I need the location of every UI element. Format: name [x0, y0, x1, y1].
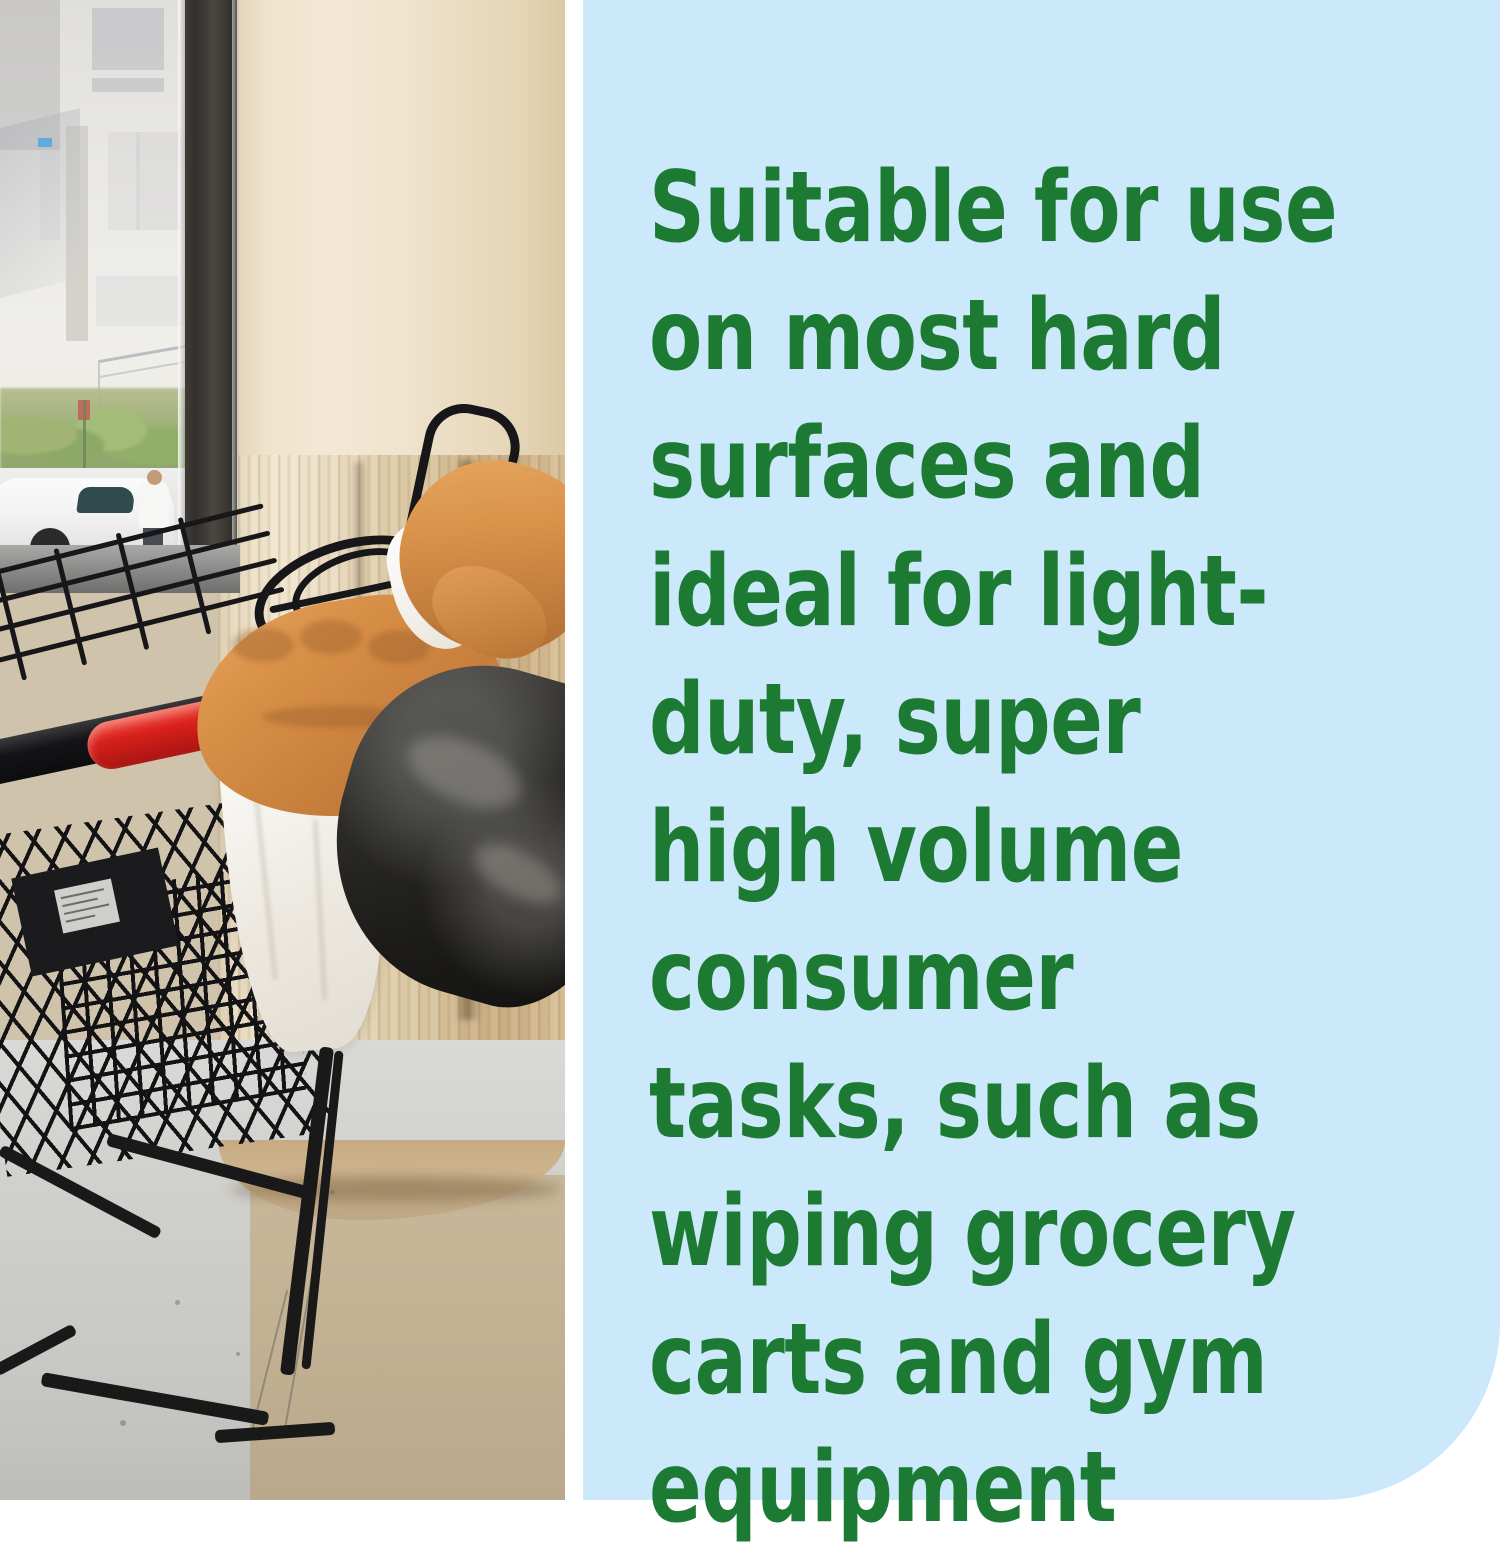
benefit-copy-panel: Suitable for use on most hard surfaces a… [583, 0, 1500, 1500]
car-window [76, 487, 136, 513]
blue-sign [38, 138, 52, 147]
window-mullion [185, 0, 237, 572]
pedestrian-head [147, 470, 162, 485]
building-window [92, 8, 164, 70]
window-mullion-highlight [232, 0, 239, 572]
metal-column-upper [218, 0, 565, 470]
product-usage-photo [0, 0, 565, 1500]
feature-banner: Suitable for use on most hard surfaces a… [0, 0, 1500, 1500]
floor-speck [236, 1352, 240, 1356]
floor-speck [175, 1300, 180, 1305]
headline-text: Suitable for use on most hard surfaces a… [649, 144, 1353, 1552]
floor-speck [120, 1420, 126, 1426]
building-window [96, 276, 190, 326]
floor-speck [330, 1190, 335, 1195]
sign-post [83, 400, 86, 470]
panel-divider [565, 0, 583, 1500]
building-window [92, 78, 164, 92]
building-soffit [0, 108, 80, 298]
storefront-window [0, 0, 190, 575]
